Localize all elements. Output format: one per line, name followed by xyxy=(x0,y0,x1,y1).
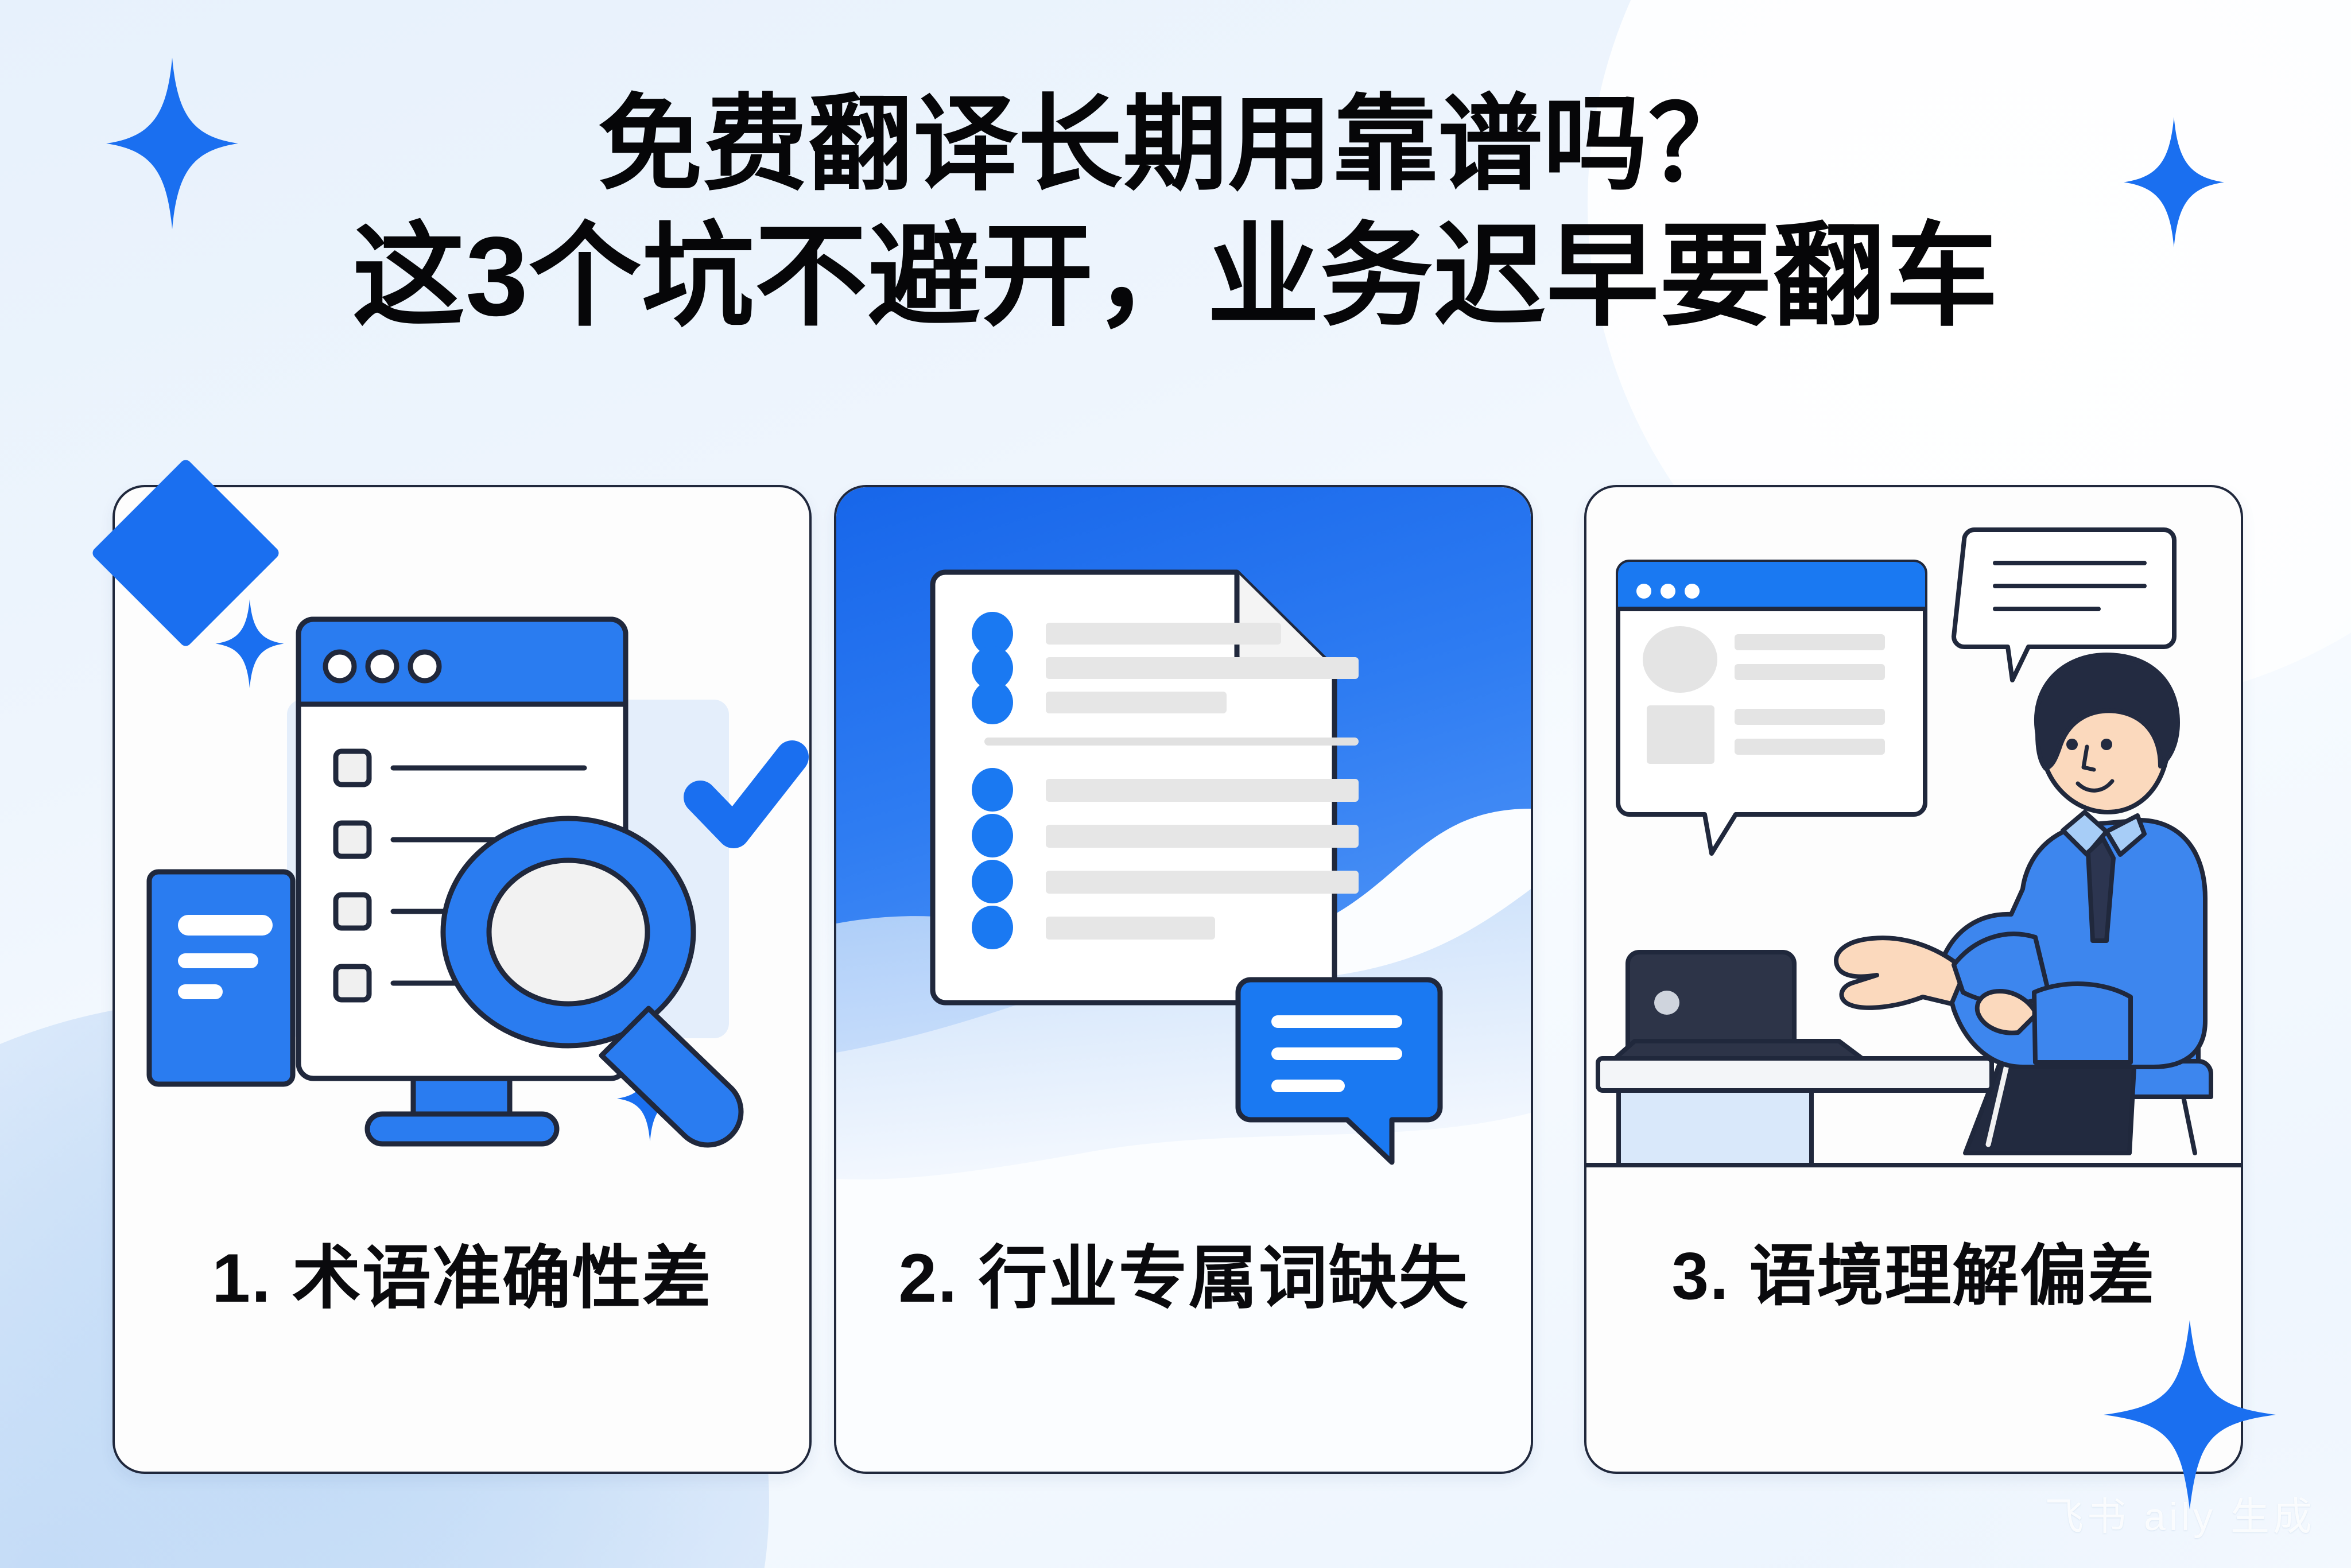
card-term-accuracy[interactable]: 1. 术语准确性差 xyxy=(112,485,812,1474)
browser-bubble-icon xyxy=(1618,562,1925,853)
title-line-1: 免费翻译长期用靠谱吗？ xyxy=(0,80,2351,208)
card-context-understanding[interactable]: 3. 语境理解偏差 xyxy=(1584,485,2243,1474)
card-2-illustration xyxy=(836,487,1531,1233)
poster-canvas: 免费翻译长期用靠谱吗？ 这3个坑不避开，业务迟早要翻车 xyxy=(0,0,2351,1568)
speech-bubble-icon xyxy=(1954,530,2174,680)
book-icon xyxy=(149,872,293,1084)
check-icon xyxy=(700,757,792,832)
poster-title: 免费翻译长期用靠谱吗？ 这3个坑不避开，业务迟早要翻车 xyxy=(0,80,2351,345)
card-1-label: 1. 术语准确性差 xyxy=(115,1222,809,1322)
card-1-illustration xyxy=(115,487,809,1233)
card-3-label: 3. 语境理解偏差 xyxy=(1586,1222,2241,1318)
title-line-2: 这3个坑不避开，业务迟早要翻车 xyxy=(0,208,2351,345)
card-3-illustration xyxy=(1586,487,2241,1233)
card-2-label: 2. 行业专属词缺失 xyxy=(836,1222,1531,1322)
card-industry-terms[interactable]: 2. 行业专属词缺失 xyxy=(834,485,1533,1474)
watermark-text: 飞书 aily 生成 xyxy=(2044,1485,2315,1542)
chat-bubble-icon xyxy=(1238,980,1440,1162)
